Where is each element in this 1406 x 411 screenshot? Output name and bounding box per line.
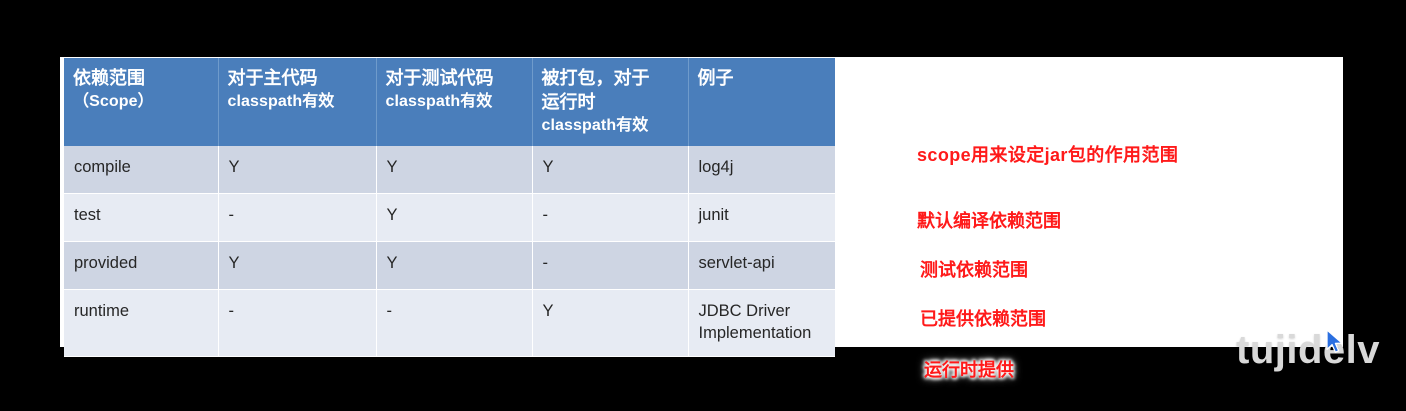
cell-example: servlet-api <box>688 242 835 290</box>
table-row: runtime - - Y JDBC Driver Implementation <box>64 290 835 357</box>
annotation-provided: 已提供依赖范围 <box>920 305 1046 331</box>
column-header-packaged-runtime-classpath: 被打包，对于 运行时 classpath有效 <box>532 58 688 146</box>
header-line-2: 运行时 <box>542 91 679 115</box>
table-header-row: 依赖范围 （Scope） 对于主代码 classpath有效 对于测试代码 cl… <box>64 58 835 146</box>
cell-example: junit <box>688 194 835 242</box>
cell-main-classpath: - <box>218 194 376 242</box>
cell-scope: compile <box>64 146 218 194</box>
header-line-2: （Scope） <box>73 91 209 112</box>
annotation-scope-definition: scope用来设定jar包的作用范围 <box>917 141 1178 167</box>
header-line-1: 被打包，对于 <box>542 67 679 91</box>
annotation-test: 测试依赖范围 <box>920 256 1028 282</box>
slide-content-panel: 依赖范围 （Scope） 对于主代码 classpath有效 对于测试代码 cl… <box>60 57 1343 347</box>
cell-example: log4j <box>688 146 835 194</box>
column-header-main-classpath: 对于主代码 classpath有效 <box>218 58 376 146</box>
header-line-1: 例子 <box>698 67 827 91</box>
cell-main-classpath: Y <box>218 146 376 194</box>
dependency-scope-table: 依赖范围 （Scope） 对于主代码 classpath有效 对于测试代码 cl… <box>64 58 835 357</box>
table-row: compile Y Y Y log4j <box>64 146 835 194</box>
cell-example: JDBC Driver Implementation <box>688 290 835 357</box>
annotation-compile: 默认编译依赖范围 <box>917 207 1061 233</box>
cell-test-classpath: - <box>376 290 532 357</box>
header-line-1: 对于主代码 <box>228 67 367 91</box>
cell-runtime-classpath: - <box>532 242 688 290</box>
cell-scope: test <box>64 194 218 242</box>
cell-scope: runtime <box>64 290 218 357</box>
watermark-label: tujidelv <box>1236 330 1380 370</box>
header-line-3: classpath有效 <box>542 115 679 136</box>
header-line-2: classpath有效 <box>228 91 367 112</box>
cell-runtime-classpath: - <box>532 194 688 242</box>
column-header-scope: 依赖范围 （Scope） <box>64 58 218 146</box>
cell-runtime-classpath: Y <box>532 290 688 357</box>
annotation-runtime: 运行时提供 <box>924 356 1014 382</box>
table-row: provided Y Y - servlet-api <box>64 242 835 290</box>
cell-runtime-classpath: Y <box>532 146 688 194</box>
cell-main-classpath: - <box>218 290 376 357</box>
header-line-1: 依赖范围 <box>73 67 209 91</box>
cell-test-classpath: Y <box>376 194 532 242</box>
column-header-test-classpath: 对于测试代码 classpath有效 <box>376 58 532 146</box>
cell-test-classpath: Y <box>376 146 532 194</box>
cell-test-classpath: Y <box>376 242 532 290</box>
table-row: test - Y - junit <box>64 194 835 242</box>
column-header-example: 例子 <box>688 58 835 146</box>
header-line-2: classpath有效 <box>386 91 523 112</box>
cell-main-classpath: Y <box>218 242 376 290</box>
cell-scope: provided <box>64 242 218 290</box>
header-line-1: 对于测试代码 <box>386 67 523 91</box>
